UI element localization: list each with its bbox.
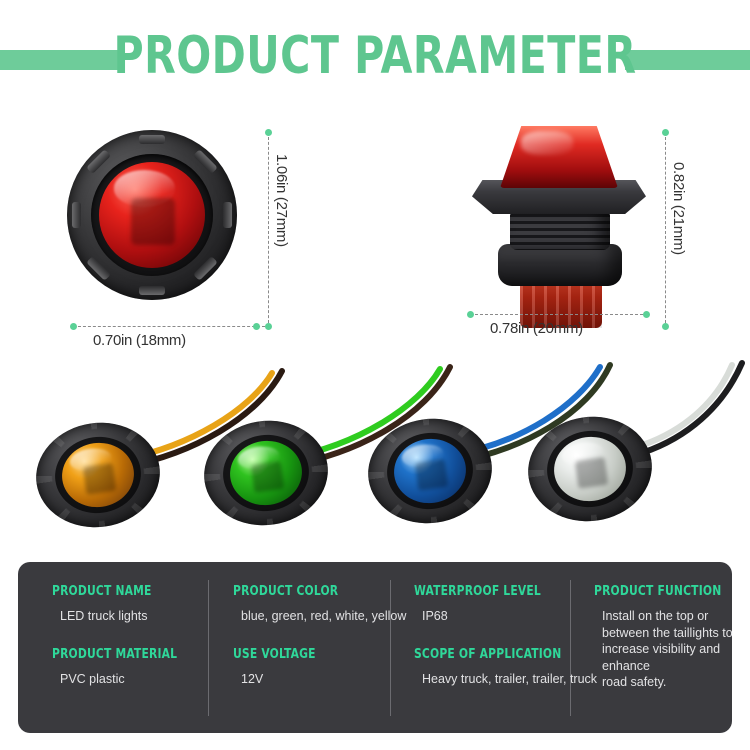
spec-value: Install on the top or between the tailli…: [594, 608, 734, 691]
product-dimension-section: 1.06in (27mm) 0.70in (18mm) 0.82in (21mm…: [0, 118, 750, 358]
spec-label: USE VOLTAGE: [233, 647, 380, 662]
spec-item-product-material: PRODUCT MATERIAL PVC plastic: [52, 647, 202, 688]
bezel-notch: [223, 202, 232, 228]
spec-label: SCOPE OF APPLICATION: [414, 647, 566, 662]
spec-divider: [208, 580, 209, 716]
spec-value: blue, green, red, white, yellow: [233, 608, 393, 625]
color-variant-row: [0, 355, 750, 555]
spec-label: PRODUCT COLOR: [233, 584, 380, 599]
spec-value: IP68: [414, 608, 579, 625]
specification-panel: PRODUCT NAME LED truck lights PRODUCT MA…: [18, 562, 732, 733]
spec-label: WATERPROOF LEVEL: [414, 584, 566, 599]
spec-label: PRODUCT MATERIAL: [52, 647, 190, 662]
side-height-dim-dot-bottom: [662, 323, 669, 330]
spec-column-4: PRODUCT FUNCTION Install on the top or b…: [594, 584, 734, 712]
side-height-dim-line: [665, 132, 666, 328]
bezel-notch: [193, 256, 218, 281]
bezel-notch: [139, 135, 165, 144]
spec-value: 12V: [233, 671, 393, 688]
page-title: PRODUCT PARAMETER: [45, 26, 705, 86]
front-view-lamp-image: [67, 130, 237, 300]
spec-value: Heavy truck, trailer, trailer, truck: [414, 671, 579, 688]
lamp-lens-red: [99, 162, 205, 268]
front-width-dim-label: 0.70in (18mm): [93, 332, 186, 349]
front-height-dim-line: [268, 132, 269, 328]
spec-column-3: WATERPROOF LEVEL IP68 SCOPE OF APPLICATI…: [414, 584, 579, 712]
spec-value: LED truck lights: [52, 608, 202, 625]
spec-column-1: PRODUCT NAME LED truck lights PRODUCT MA…: [52, 584, 202, 712]
side-height-dim-label: 0.82in (21mm): [670, 162, 687, 255]
lamp-lens-red: [500, 126, 618, 188]
bezel-notch: [86, 256, 111, 281]
spec-item-product-color: PRODUCT COLOR blue, green, red, white, y…: [233, 584, 393, 625]
spec-item-product-name: PRODUCT NAME LED truck lights: [52, 584, 202, 625]
bezel-notch: [139, 286, 165, 295]
lamp-collar: [498, 244, 622, 286]
spec-column-2: PRODUCT COLOR blue, green, red, white, y…: [233, 584, 393, 712]
side-width-dim-label: 0.78in (20mm): [490, 320, 583, 337]
spec-item-scope-of-application: SCOPE OF APPLICATION Heavy truck, traile…: [414, 647, 579, 688]
lamp-threads: [510, 210, 610, 250]
spec-label: PRODUCT FUNCTION: [594, 584, 723, 599]
side-width-dim-line: [470, 314, 648, 315]
front-height-dim-dot-bottom: [265, 323, 272, 330]
bezel-notch: [86, 149, 111, 174]
front-width-dim-dot-left: [70, 323, 77, 330]
lens-highlight: [114, 170, 175, 206]
bezel-notch: [193, 149, 218, 174]
side-view-lamp-image: [472, 126, 646, 328]
front-height-dim-label: 1.06in (27mm): [273, 154, 290, 247]
spec-item-product-function: PRODUCT FUNCTION Install on the top or b…: [594, 584, 734, 691]
spec-item-waterproof-level: WATERPROOF LEVEL IP68: [414, 584, 579, 625]
page-header: PRODUCT PARAMETER: [0, 0, 750, 120]
spec-value: PVC plastic: [52, 671, 202, 688]
front-width-dim-dot-right: [253, 323, 260, 330]
spec-item-use-voltage: USE VOLTAGE 12V: [233, 647, 393, 688]
spec-label: PRODUCT NAME: [52, 584, 190, 599]
side-height-dim-dot-top: [662, 129, 669, 136]
side-width-dim-dot-left: [467, 311, 474, 318]
bezel-notch: [72, 202, 81, 228]
front-height-dim-dot-top: [265, 129, 272, 136]
front-width-dim-line: [73, 326, 265, 327]
side-width-dim-dot-right: [643, 311, 650, 318]
